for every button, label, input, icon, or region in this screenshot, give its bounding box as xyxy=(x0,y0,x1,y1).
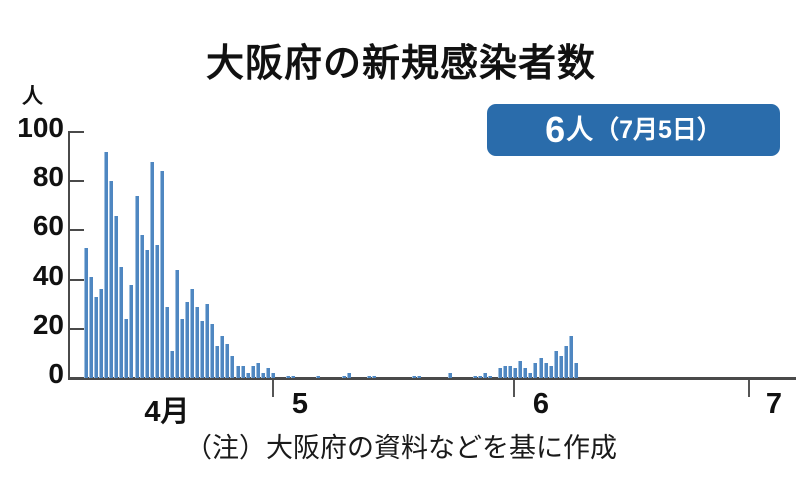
bar xyxy=(145,250,149,378)
bar xyxy=(94,297,98,378)
bar xyxy=(544,363,548,378)
bar xyxy=(175,270,179,378)
bar xyxy=(225,344,229,378)
bar xyxy=(215,346,219,378)
bar xyxy=(150,162,154,378)
bar xyxy=(99,289,103,378)
bar xyxy=(220,336,224,378)
bar xyxy=(251,366,255,378)
bar xyxy=(190,289,194,378)
x-axis-tick-2 xyxy=(513,380,515,397)
x-axis-tick-label-0: 4月 xyxy=(144,388,189,430)
bar xyxy=(533,363,537,378)
bar xyxy=(564,346,568,378)
bar xyxy=(261,373,265,378)
bar xyxy=(473,376,477,378)
bar xyxy=(200,321,204,378)
bar xyxy=(417,376,421,378)
bar xyxy=(160,171,164,378)
bar xyxy=(498,368,502,378)
source-caption: （注）大阪府の資料などを基に作成 xyxy=(0,426,802,465)
bar xyxy=(241,366,245,378)
y-axis-tick-label-20: 20 xyxy=(2,311,64,339)
bar xyxy=(372,376,376,378)
bar xyxy=(448,373,452,378)
bar-series-plot xyxy=(68,132,794,378)
bar xyxy=(119,267,123,378)
x-axis-tick-1 xyxy=(272,380,274,397)
bar xyxy=(513,368,517,378)
bar xyxy=(84,248,88,378)
bar xyxy=(129,285,133,378)
bar xyxy=(104,152,108,378)
bar xyxy=(554,351,558,378)
bar xyxy=(291,376,295,378)
bar xyxy=(140,235,144,378)
bar xyxy=(135,196,139,378)
bar xyxy=(256,363,260,378)
bar xyxy=(246,373,250,378)
bar xyxy=(412,376,416,378)
bar xyxy=(503,366,507,378)
page-title: 大阪府の新規感染者数 xyxy=(0,32,802,87)
bar xyxy=(210,324,214,378)
bar xyxy=(316,376,320,378)
y-axis-tick-label-40: 40 xyxy=(2,262,64,290)
bar xyxy=(124,319,128,378)
x-axis-tick-3 xyxy=(748,380,750,397)
bar xyxy=(205,304,209,378)
bar xyxy=(574,363,578,378)
bar xyxy=(549,366,553,378)
bar xyxy=(165,307,169,378)
x-axis-tick-label-1: 5 xyxy=(292,388,308,421)
y-axis-tick-label-0: 0 xyxy=(2,360,64,388)
bar xyxy=(109,181,113,378)
bar xyxy=(559,356,563,378)
bar xyxy=(478,376,482,378)
bar xyxy=(342,376,346,378)
chart-figure: 大阪府の新規感染者数 6 人 （7月5日） 人 020406080100 4月5… xyxy=(0,0,802,500)
y-axis-tick-labels: 020406080100 xyxy=(0,0,64,500)
bar xyxy=(347,373,351,378)
bar xyxy=(266,368,270,378)
bar xyxy=(195,307,199,378)
bar xyxy=(488,376,492,378)
bar xyxy=(236,366,240,378)
bar xyxy=(170,351,174,378)
bar xyxy=(180,319,184,378)
bar xyxy=(518,361,522,378)
bar xyxy=(508,366,512,378)
bar xyxy=(539,358,543,378)
bar xyxy=(114,216,118,378)
bar xyxy=(230,356,234,378)
bar xyxy=(523,368,527,378)
x-axis-tick-label-2: 6 xyxy=(533,388,549,421)
bar xyxy=(528,373,532,378)
bar xyxy=(89,277,93,378)
bar xyxy=(271,373,275,378)
x-axis-tick-label-3: 7 xyxy=(766,388,782,421)
bar xyxy=(155,245,159,378)
bar xyxy=(286,376,290,378)
y-axis-tick-label-80: 80 xyxy=(2,163,64,191)
bar xyxy=(483,373,487,378)
bar xyxy=(569,336,573,378)
bar xyxy=(185,302,189,378)
bar xyxy=(367,376,371,378)
y-axis-tick-label-100: 100 xyxy=(2,114,64,142)
y-axis-tick-label-60: 60 xyxy=(2,212,64,240)
